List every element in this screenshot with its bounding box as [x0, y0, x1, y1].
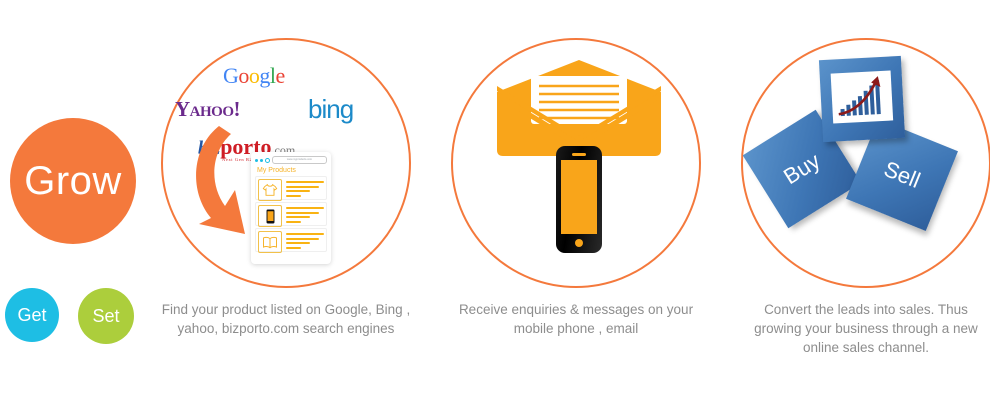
- product-text-lines: [286, 179, 324, 199]
- step-3-caption: Convert the leads into sales. Thus growi…: [741, 300, 990, 357]
- book-icon: [258, 231, 282, 253]
- growth-chart-icon: [831, 70, 894, 123]
- bing-logo: bing: [308, 94, 353, 125]
- badge-set[interactable]: Set: [78, 288, 134, 344]
- browser-mockup: www.myproducts.com My Products: [251, 152, 331, 264]
- step-2-circle: [451, 38, 701, 288]
- browser-toolbar: www.myproducts.com: [255, 156, 327, 164]
- badge-grow-label: Grow: [24, 159, 122, 204]
- envelope-icon: [495, 58, 663, 158]
- product-row[interactable]: [255, 228, 327, 252]
- step-1-caption: Find your product listed on Google, Bing…: [161, 300, 411, 338]
- browser-dot-1: [255, 159, 258, 162]
- step-2-caption: Receive enquiries & messages on your mob…: [451, 300, 701, 338]
- step-1-circle: Google YAHOO! bing bizporto.com Next Gen…: [161, 38, 411, 288]
- tile-growth-chart[interactable]: [819, 56, 905, 142]
- product-row[interactable]: [255, 202, 327, 226]
- browser-dot-2: [260, 159, 263, 162]
- badge-set-label: Set: [92, 306, 119, 327]
- phone-speaker: [572, 153, 586, 156]
- badge-grow[interactable]: Grow: [10, 118, 136, 244]
- product-text-lines: [286, 205, 324, 225]
- step-search-listing: Google YAHOO! bing bizporto.com Next Gen…: [161, 38, 417, 338]
- google-letter-g: G: [223, 63, 238, 88]
- badge-get-label: Get: [17, 305, 46, 326]
- step-enquiries: Receive enquiries & messages on your mob…: [451, 38, 707, 338]
- product-row[interactable]: [255, 176, 327, 200]
- google-letter-o2: o: [249, 63, 260, 88]
- phone-home-button[interactable]: [575, 239, 583, 247]
- product-text-lines: [286, 231, 324, 251]
- browser-refresh-icon[interactable]: [265, 158, 270, 163]
- tile-sell-label: Sell: [880, 156, 924, 194]
- step-convert-sales: Buy Sell: [741, 38, 990, 357]
- step-3-circle: Buy Sell: [741, 38, 990, 288]
- yahoo-bang: !: [234, 97, 241, 121]
- badge-get[interactable]: Get: [5, 288, 59, 342]
- yahoo-initial: Y: [175, 97, 190, 121]
- google-logo: Google: [223, 63, 285, 89]
- browser-url-bar[interactable]: www.myproducts.com: [272, 156, 327, 164]
- google-letter-e: e: [276, 63, 285, 88]
- phone-screen: [561, 160, 597, 234]
- phone-icon: [258, 205, 282, 227]
- tshirt-icon: [258, 179, 282, 201]
- google-letter-g2: g: [259, 63, 270, 88]
- yahoo-logo: YAHOO!: [175, 97, 240, 122]
- mobile-phone-icon: [556, 146, 602, 253]
- browser-page-title: My Products: [257, 167, 327, 174]
- yahoo-rest: AHOO: [190, 104, 234, 120]
- tile-buy-label: Buy: [779, 148, 825, 190]
- google-letter-o1: o: [238, 63, 249, 88]
